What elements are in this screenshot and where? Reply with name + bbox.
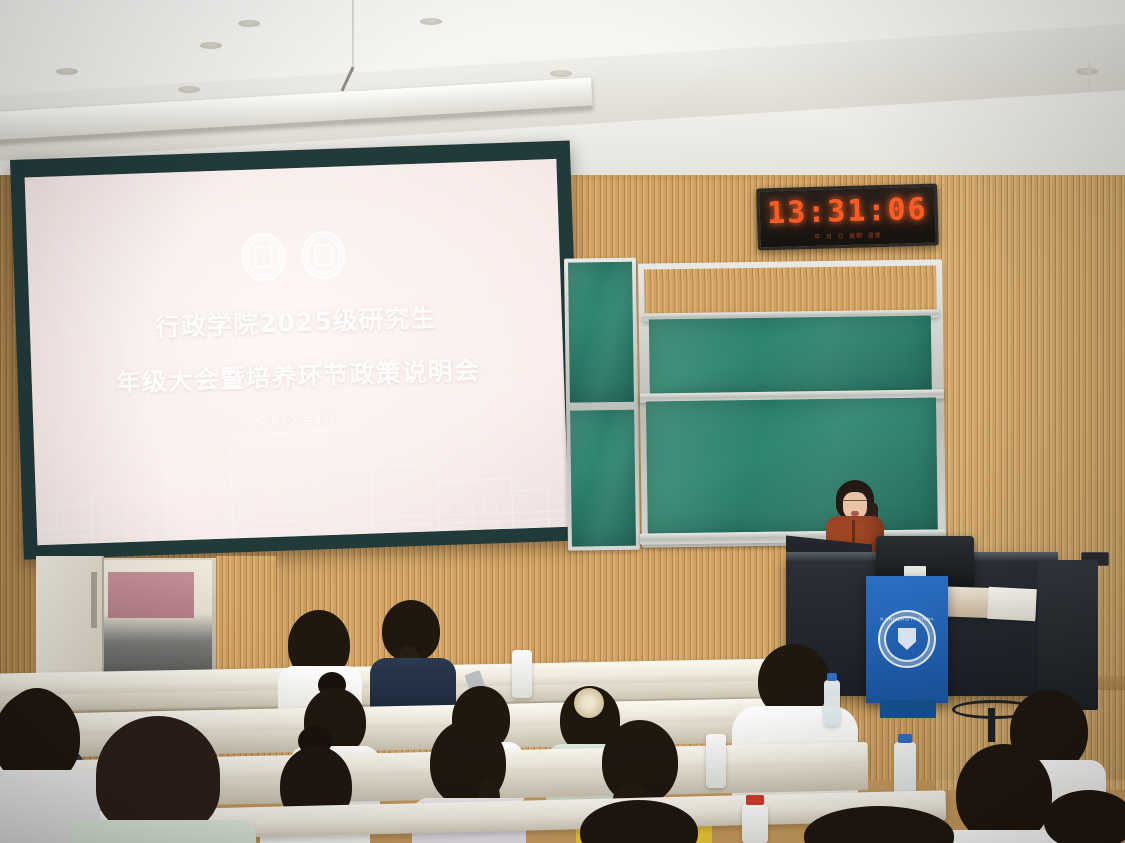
blackboard-recess-wood bbox=[644, 265, 937, 315]
chair-post bbox=[988, 708, 995, 742]
projected-slide: 行政学院2025级研究生 年级大会暨培养环节政策说明会 2025年9月 bbox=[25, 159, 570, 545]
water-bottle bbox=[742, 804, 768, 843]
side-cabinet bbox=[1038, 560, 1098, 710]
towel-white bbox=[987, 587, 1037, 621]
screen-hanger-wire bbox=[1088, 62, 1090, 92]
downlight-icon bbox=[1076, 68, 1098, 75]
glasses-icon bbox=[842, 500, 868, 507]
door-jamb-wood bbox=[216, 556, 276, 678]
thermos-tumbler bbox=[512, 650, 532, 698]
downlight-icon bbox=[178, 86, 200, 93]
projector-screen: 行政学院2025级研究生 年级大会暨培养环节政策说明会 2025年9月 bbox=[10, 140, 584, 559]
bottle-cap bbox=[898, 734, 912, 743]
blackboard-panel-main bbox=[646, 397, 938, 533]
student-head bbox=[956, 744, 1052, 843]
student-head bbox=[96, 716, 220, 834]
student-torso bbox=[66, 820, 256, 843]
downlight-icon bbox=[200, 42, 222, 49]
student-head bbox=[1044, 790, 1125, 843]
downlight-icon bbox=[550, 70, 572, 77]
clock-time: 13:31:06 bbox=[759, 192, 935, 232]
speaking-podium: N UNIVERSITY CHINA bbox=[866, 576, 948, 703]
university-seal-right-icon bbox=[301, 230, 347, 280]
water-bottle bbox=[824, 680, 840, 726]
downlight-icon bbox=[238, 20, 260, 27]
downlight-icon bbox=[56, 68, 78, 75]
blackboard-panel bbox=[649, 316, 932, 396]
university-seal-left-icon bbox=[241, 232, 287, 282]
university-seal-icon: N UNIVERSITY CHINA bbox=[878, 610, 936, 668]
slide-title: 行政学院2025级研究生 年级大会暨培养环节政策说明会 bbox=[29, 287, 564, 414]
blackboard bbox=[564, 253, 946, 552]
screen-hanger-wire bbox=[352, 0, 354, 72]
lecture-hall-photo: 行政学院2025级研究生 年级大会暨培养环节政策说明会 2025年9月 bbox=[0, 0, 1125, 843]
slide-building-illustration bbox=[34, 415, 570, 545]
thermos-tumbler bbox=[706, 734, 726, 788]
handheld-fan-icon bbox=[574, 688, 604, 718]
bottle-cap bbox=[746, 795, 764, 805]
corridor-pink-wall bbox=[108, 572, 194, 618]
blackboard-panel bbox=[568, 262, 634, 403]
blackboard-panel bbox=[570, 410, 636, 547]
digital-wall-clock: 13:31:06 年 月 日 星期 温度 bbox=[756, 183, 939, 250]
podium-base bbox=[880, 700, 936, 718]
bottle-cap bbox=[827, 673, 837, 681]
downlight-icon bbox=[420, 18, 442, 25]
door-handle-slot[interactable] bbox=[91, 572, 97, 628]
